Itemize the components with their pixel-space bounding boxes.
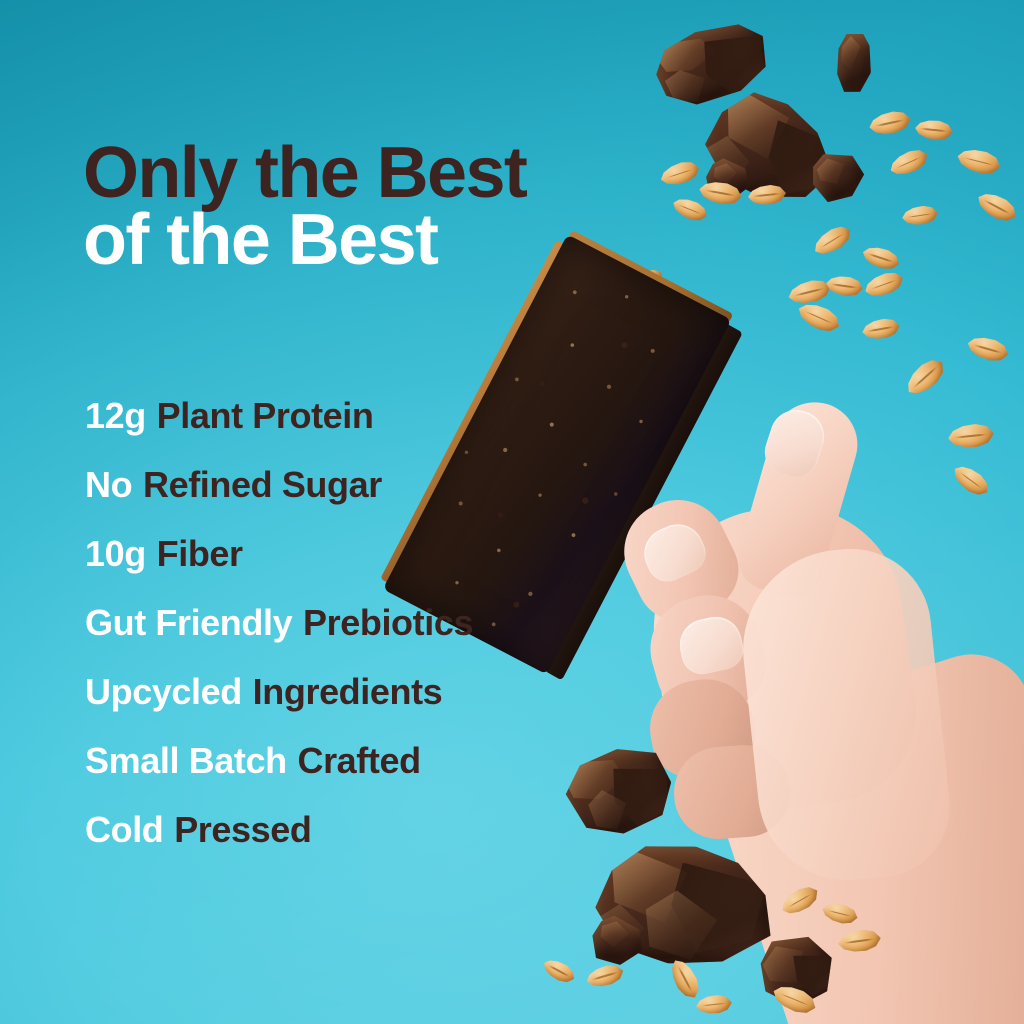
feature-rest: Refined Sugar [143, 467, 382, 503]
feature-rest: Ingredients [253, 674, 443, 710]
headline-line-1: Only the Best [83, 140, 526, 207]
feature-highlight: Cold [85, 812, 163, 848]
feature-highlight: No [85, 467, 132, 503]
feature-rest: Crafted [297, 743, 420, 779]
feature-highlight: 10g [85, 536, 146, 572]
feature-rest: Plant Protein [157, 398, 374, 434]
feature-list: 12gPlant ProteinNoRefined Sugar10gFiberG… [85, 381, 645, 864]
feature-highlight: Small Batch [85, 743, 287, 779]
feature-item: Small BatchCrafted [85, 726, 645, 795]
product-benefits-graphic: Only the Best of the Best 12gPlant Prote… [0, 0, 1024, 1024]
hand [600, 380, 1024, 1024]
feature-highlight: Gut Friendly [85, 605, 292, 641]
headline-line-2: of the Best [83, 207, 526, 274]
feature-item: UpcycledIngredients [85, 657, 645, 726]
feature-highlight: Upcycled [85, 674, 242, 710]
page-title: Only the Best of the Best [83, 140, 526, 274]
feature-item: ColdPressed [85, 795, 645, 864]
feature-item: 10gFiber [85, 519, 645, 588]
feature-item: 12gPlant Protein [85, 381, 645, 450]
feature-highlight: 12g [85, 398, 146, 434]
feature-rest: Fiber [157, 536, 243, 572]
feature-rest: Prebiotics [303, 605, 473, 641]
feature-item: Gut FriendlyPrebiotics [85, 588, 645, 657]
feature-rest: Pressed [174, 812, 311, 848]
feature-item: NoRefined Sugar [85, 450, 645, 519]
